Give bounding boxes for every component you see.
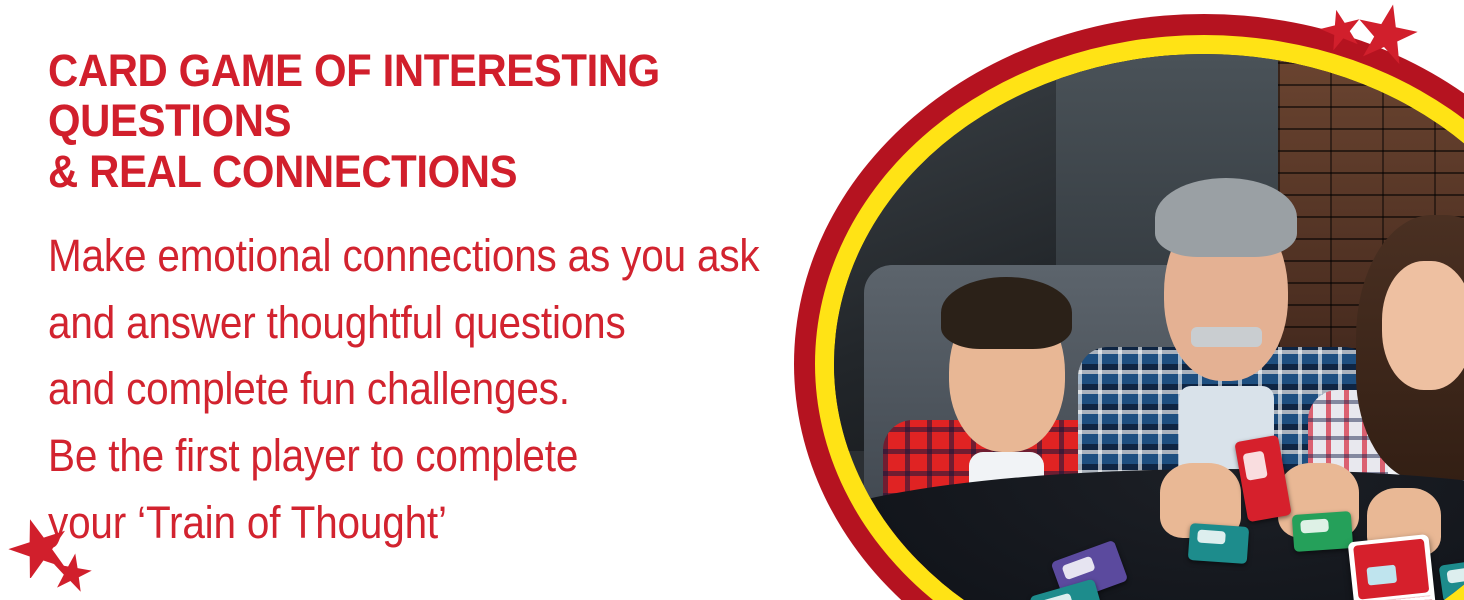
boy-hair xyxy=(941,277,1072,348)
man-moustache xyxy=(1191,327,1262,347)
body-copy: Make emotional connections as you ask an… xyxy=(48,223,858,556)
star-icon xyxy=(52,552,92,592)
girl-face xyxy=(1382,261,1464,389)
man-hair xyxy=(1155,178,1297,257)
card-deck xyxy=(1348,534,1438,600)
page-title: CARD GAME OF INTERESTING QUESTIONS & REA… xyxy=(48,46,885,197)
card-green-center xyxy=(1292,511,1354,552)
star-icon xyxy=(1356,2,1418,64)
copy-block: CARD GAME OF INTERESTING QUESTIONS & REA… xyxy=(48,46,948,556)
card-teal-right xyxy=(1438,559,1464,600)
promo-banner: CARD GAME OF INTERESTING QUESTIONS & REA… xyxy=(0,0,1464,600)
card-teal-center xyxy=(1188,523,1250,564)
